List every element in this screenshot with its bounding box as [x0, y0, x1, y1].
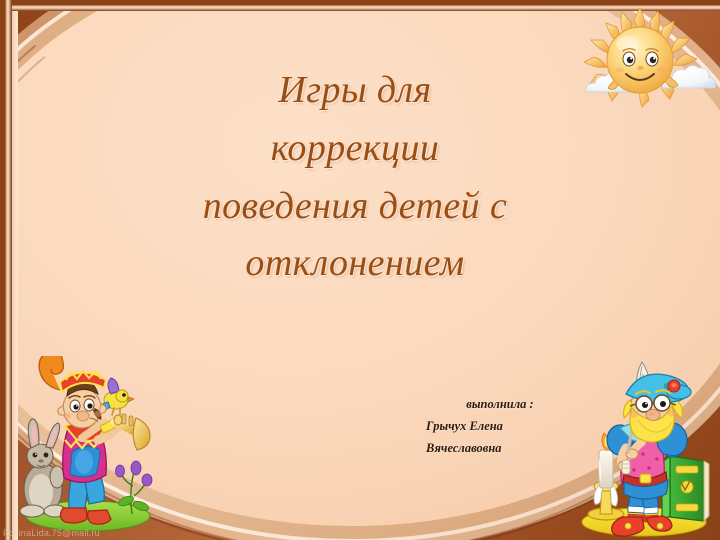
title-line-4: отклонением [95, 235, 615, 293]
title-line-1: Игры для [95, 62, 615, 120]
storyteller-with-quill-illustration [564, 354, 716, 540]
author-role-label: выполнила : [420, 394, 580, 416]
smiling-sun-icon [564, 2, 716, 122]
email-watermark: FokinaLida.75@mail.ru [3, 528, 100, 538]
author-name-line-2: Вячеславовна [420, 438, 580, 460]
slide-title: Игры для коррекции поведения детей с отк… [95, 62, 615, 293]
sun-face [607, 27, 673, 93]
rabbit-figure [20, 419, 66, 517]
title-line-2: коррекции [95, 120, 615, 178]
flower-blooms [116, 461, 153, 486]
title-line-3: поведения детей с [95, 178, 615, 236]
green-book [662, 456, 709, 521]
minstrel-with-trumpet-illustration [10, 356, 160, 534]
author-block: выполнила : Грычух Елена Вячеславовна [420, 394, 580, 460]
author-name-line-1: Грычух Елена [420, 416, 580, 438]
small-scroll [622, 460, 630, 474]
presentation-slide: Игры для коррекции поведения детей с отк… [0, 0, 720, 540]
